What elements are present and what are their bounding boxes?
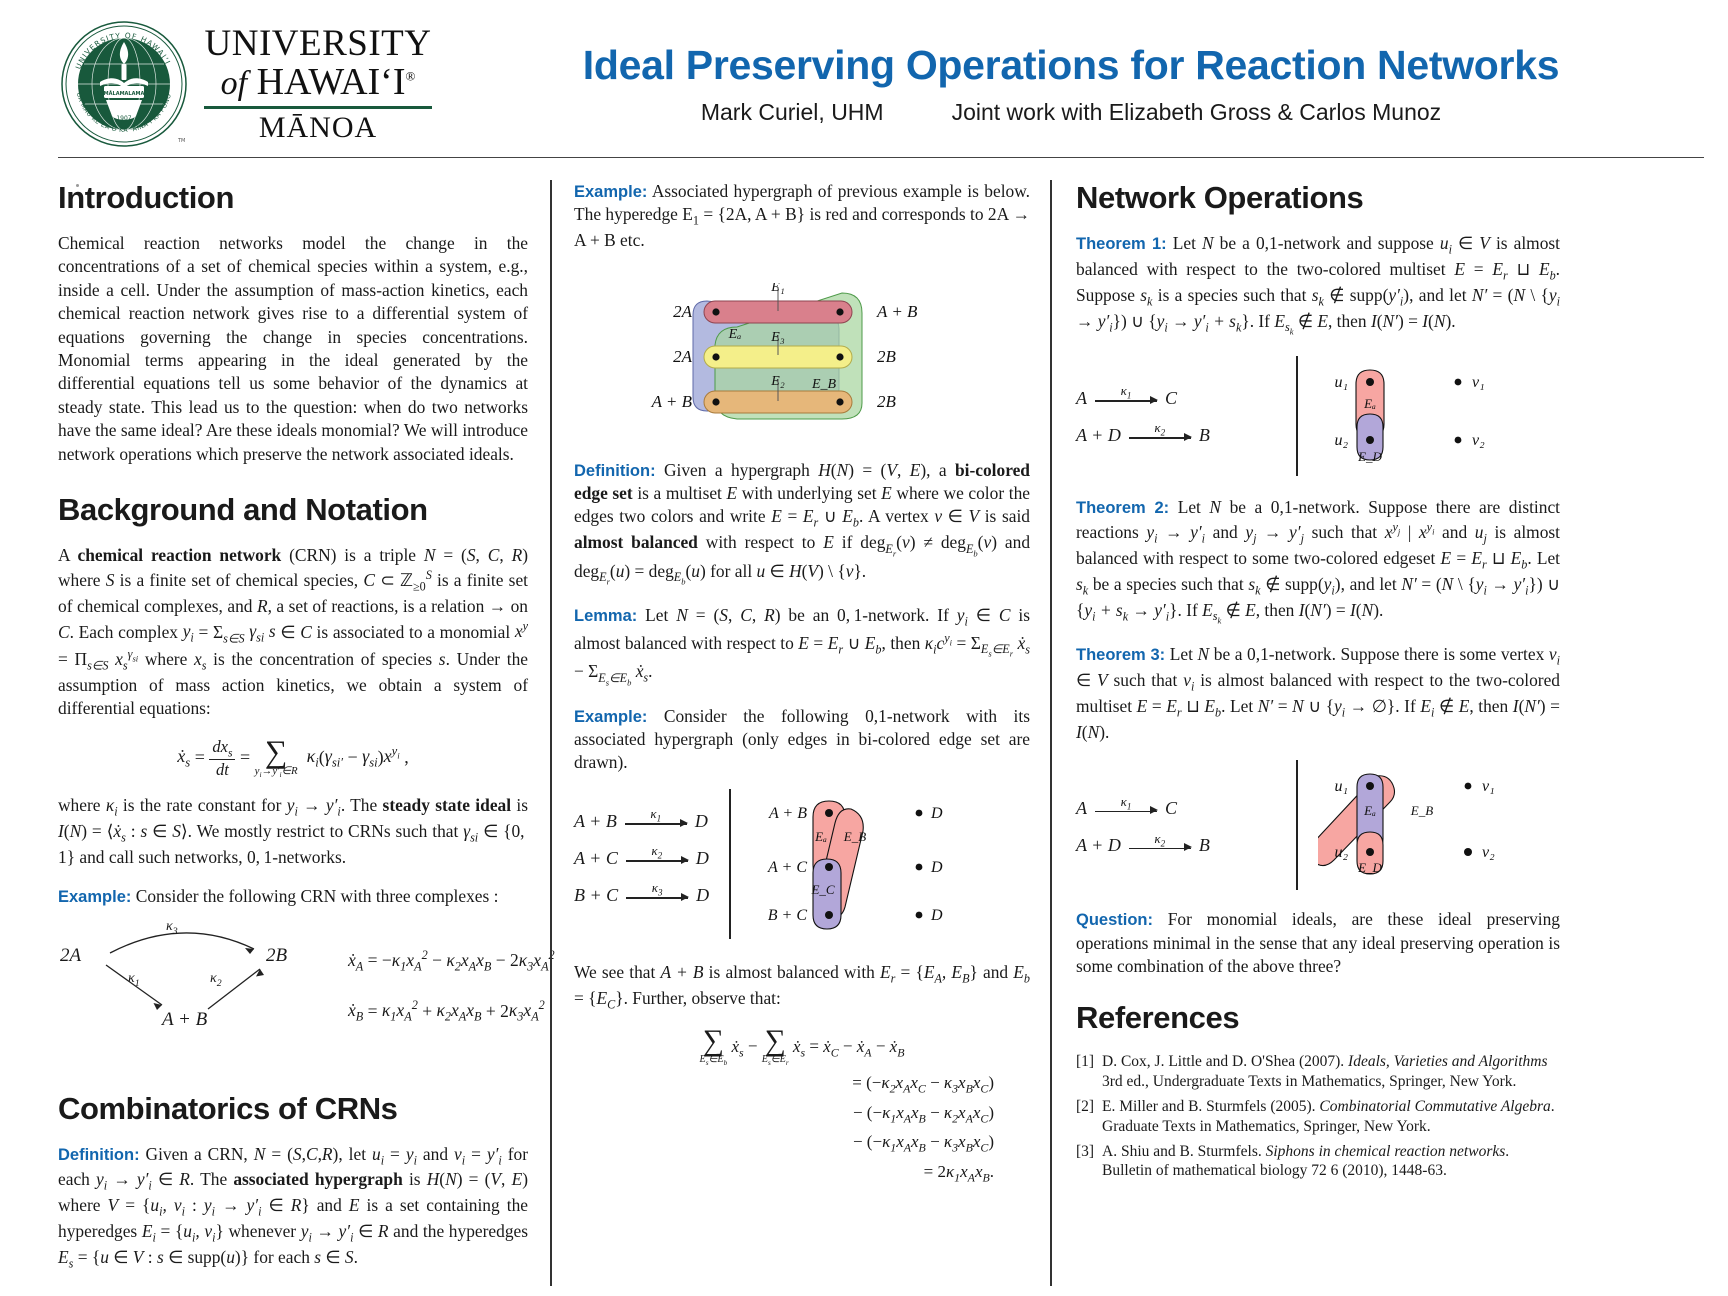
svg-text:2B: 2B: [877, 347, 897, 366]
svg-text:E₁: E₁: [770, 283, 784, 295]
reaction-arrow-icon: κ1: [1095, 800, 1157, 818]
reference-item: [3] A. Shiu and B. Sturmfels. Siphons in…: [1076, 1142, 1560, 1182]
reference-number: [1]: [1076, 1052, 1102, 1092]
reaction-row: A κ1 C: [1076, 798, 1276, 819]
svg-text:E_B: E_B: [1410, 803, 1433, 818]
svg-text:2A: 2A: [673, 302, 693, 321]
reference-body: D. Cox, J. Little and D. O'Shea (2007). …: [1102, 1052, 1560, 1092]
svg-text:Eₐ: Eₐ: [1363, 803, 1376, 818]
observation-paragraph: We see that A + B is almost balanced wit…: [574, 961, 1030, 1013]
wordmark-of: of: [221, 65, 247, 102]
crn-node-apb: A + B: [162, 1009, 207, 1031]
section-heading-network-operations: Network Operations: [1076, 180, 1560, 216]
column-3: Network Operations Theorem 1: Let N be a…: [1050, 180, 1560, 1286]
svg-text:D: D: [930, 907, 943, 924]
diagram-divider-3: [1296, 356, 1298, 476]
introduction-paragraph: Chemical reaction networks model the cha…: [58, 232, 528, 466]
diagram-divider-4: [1296, 760, 1298, 890]
theorem-2-paragraph: Theorem 2: Let N be a 0,1-network. Suppo…: [1076, 496, 1560, 627]
reference-rest: 3rd ed., Undergraduate Texts in Mathemat…: [1102, 1073, 1516, 1090]
crn-rate-k2: κ2: [210, 971, 222, 989]
column-1: Introduction Chemical reaction networks …: [58, 180, 550, 1286]
svg-text:u₁: u₁: [1334, 374, 1348, 391]
theorem-3-reactions: A κ1 C A + D κ2 B: [1076, 760, 1276, 890]
crn-graph: 2A 2B A + B κ3 κ1 κ2: [58, 917, 308, 1057]
references-list: [1] D. Cox, J. Little and D. O'Shea (200…: [1076, 1052, 1560, 1181]
lemma-paragraph: Lemma: Let N = (S, C, R) be an 0, 1-netw…: [574, 604, 1030, 688]
background-paragraph-1: A chemical reaction network (CRN) is a t…: [58, 544, 528, 721]
reaction-rhs: C: [1165, 798, 1177, 819]
crn-node-2b: 2B: [266, 945, 287, 967]
svg-text:v₂: v₂: [1472, 432, 1485, 449]
reaction-row: A + D κ2 B: [1076, 425, 1276, 446]
example-2-diagram: A + B κ1 D A + C κ2 D B + C κ3 D: [574, 789, 1030, 939]
reaction-rhs: C: [1165, 388, 1177, 409]
page-title: Ideal Preserving Operations for Reaction…: [442, 42, 1700, 89]
stray-dot-marker: [76, 184, 79, 187]
reaction-arrow-icon: κ2: [1129, 837, 1191, 855]
reaction-rhs: B: [1199, 835, 1210, 856]
example-label-2: Example:: [574, 183, 647, 201]
university-logo-block: MĀLAMALAMA 1907 UNIVERSITY OF HAWAIʻI UA…: [60, 20, 432, 148]
theorem-3-label: Theorem 3:: [1076, 646, 1165, 664]
reference-body: E. Miller and B. Sturmfels (2005). Combi…: [1102, 1097, 1560, 1137]
svg-text:2B: 2B: [877, 392, 897, 411]
authors-row: Mark Curiel, UHM Joint work with Elizabe…: [442, 99, 1700, 126]
reference-authors: E. Miller and B. Sturmfels (2005).: [1102, 1098, 1319, 1115]
column-2: Example: Associated hypergraph of previo…: [550, 180, 1050, 1286]
header-divider: [58, 157, 1704, 158]
crn-rate-k1: κ1: [128, 971, 140, 989]
poster-header: MĀLAMALAMA 1907 UNIVERSITY OF HAWAIʻI UA…: [0, 0, 1728, 168]
svg-text:E_D: E_D: [1357, 449, 1382, 464]
crn-rate-k3: κ3: [166, 919, 178, 937]
reaction-lhs: A + B: [574, 811, 617, 832]
reaction-list-panel: A + B κ1 D A + C κ2 D B + C κ3 D: [574, 789, 709, 939]
reaction-rhs: D: [696, 848, 709, 869]
reaction-row: A κ1 C: [1076, 388, 1276, 409]
svg-text:D: D: [930, 805, 943, 822]
reaction-lhs: A: [1076, 388, 1087, 409]
observation-eq-4: − (−κ1xAxB − κ3xBxC): [574, 1132, 1030, 1155]
collaboration-note: Joint work with Elizabeth Gross & Carlos…: [952, 99, 1442, 126]
author-name: Mark Curiel, UHM: [701, 99, 884, 126]
reaction-arrow-icon: κ1: [1095, 389, 1157, 407]
svg-text:B + C: B + C: [768, 907, 808, 924]
reaction-rhs: D: [696, 885, 709, 906]
theorem-1-diagram: A κ1 C A + D κ2 B: [1076, 356, 1560, 476]
svg-text:E_B: E_B: [843, 829, 866, 844]
svg-text:v₁: v₁: [1472, 374, 1485, 391]
reaction-lhs: B + C: [574, 885, 618, 906]
section-heading-introduction: Introduction: [58, 180, 528, 216]
crn-example-diagram: 2A 2B A + B κ3 κ1 κ2 ẋA = −κ1xA2 − κ2xAx…: [58, 917, 528, 1057]
example-2-intro: Example: Consider the following 0,1-netw…: [574, 705, 1030, 775]
svg-text:E₃: E₃: [770, 330, 785, 345]
background-paragraph-2: where κi is the rate constant for yi → y…: [58, 794, 528, 869]
wordmark-line-hawaii: of Hawaiʻi®: [221, 63, 416, 101]
wordmark-line-university: University: [205, 25, 432, 62]
svg-text:Eₐ: Eₐ: [728, 327, 742, 342]
question-label: Question:: [1076, 911, 1153, 929]
reaction-lhs: A + D: [1076, 835, 1121, 856]
reaction-row: A + D κ2 B: [1076, 835, 1276, 856]
section-heading-combinatorics: Combinatorics of CRNs: [58, 1091, 528, 1127]
svg-text:u₂: u₂: [1334, 432, 1348, 449]
reaction-arrow-icon: κ1: [625, 812, 687, 830]
reference-title: Siphons in chemical reaction networks: [1266, 1143, 1506, 1160]
svg-text:E_C: E_C: [811, 882, 835, 897]
question-paragraph: Question: For monomial ideals, are these…: [1076, 908, 1560, 978]
observation-eq-2: = (−κ2xAxC − κ3xBxC): [574, 1073, 1030, 1096]
wordmark-hawaii: Hawaiʻi: [257, 61, 406, 103]
observation-eq-3: − (−κ1xAxB − κ2xAxC): [574, 1103, 1030, 1126]
registered-mark: ®: [405, 68, 415, 83]
reaction-row: A + B κ1 D: [574, 811, 709, 832]
theorem-1-reactions: A κ1 C A + D κ2 B: [1076, 356, 1276, 476]
diagram-divider-2: [729, 789, 731, 939]
theorem-3-diagram: A κ1 C A + D κ2 B: [1076, 760, 1560, 890]
hypergraph-figure-2: A + B A + C B + C D D D Eₐ E_B E_C: [751, 789, 1030, 939]
title-block: Ideal Preserving Operations for Reaction…: [432, 42, 1708, 126]
svg-text:Eₐ: Eₐ: [814, 829, 827, 844]
reaction-arrow-icon: κ2: [626, 849, 688, 867]
university-wordmark: University of Hawaiʻi® Mānoa: [204, 25, 432, 143]
observation-equations: ∑Es∈Eb ẋs − ∑Es∈Er ẋs = ẋC − ẋA − ẋB = (…: [574, 1028, 1030, 1185]
background-equation-xdot: ẋs = dxsdt = ∑yi→y′i∈R κi(γsi′ − γsi)xyi…: [58, 737, 528, 780]
example-1-intro: Example: Consider the following CRN with…: [58, 885, 528, 908]
reaction-rhs: B: [1199, 425, 1210, 446]
reaction-arrow-icon: κ2: [1129, 426, 1191, 444]
bicolored-definition: Definition: Given a hypergraph H(N) = (V…: [574, 459, 1030, 588]
svg-text:1907: 1907: [116, 115, 131, 122]
svg-text:A + C: A + C: [767, 859, 807, 876]
reference-number: [2]: [1076, 1097, 1102, 1137]
definition-label: Definition:: [58, 1146, 140, 1164]
theorem-2-label: Theorem 2:: [1076, 499, 1169, 517]
svg-text:u₁: u₁: [1334, 778, 1348, 795]
reference-number: [3]: [1076, 1142, 1102, 1182]
crn-node-2a: 2A: [60, 945, 81, 967]
wordmark-line-manoa: Mānoa: [259, 113, 377, 143]
ode-xa: ẋA = −κ1xA2 − κ2xAxB − 2κ3xA2: [348, 948, 555, 974]
reaction-row: A + C κ2 D: [574, 848, 709, 869]
reaction-lhs: A + C: [574, 848, 618, 869]
svg-text:A + B: A + B: [876, 302, 918, 321]
svg-text:v₁: v₁: [1482, 778, 1495, 795]
svg-text:E_D: E_D: [1357, 860, 1382, 875]
reference-item: [1] D. Cox, J. Little and D. O'Shea (200…: [1076, 1052, 1560, 1092]
combinatorics-definition: Definition: Given a CRN, N = (S,C,R), le…: [58, 1143, 528, 1272]
reference-title: Ideals, Varieties and Algorithms: [1348, 1053, 1548, 1070]
observation-eq-5: = 2κ1xAxB.: [574, 1162, 1030, 1185]
svg-text:D: D: [930, 859, 943, 876]
svg-text:u₂: u₂: [1334, 844, 1348, 861]
theorem-3-paragraph: Theorem 3: Let N be a 0,1-network. Suppo…: [1076, 643, 1560, 744]
section-heading-background: Background and Notation: [58, 492, 528, 528]
crn-graph-panel: 2A 2B A + B κ3 κ1 κ2: [58, 917, 308, 1057]
theorem-1-paragraph: Theorem 1: Let N be a 0,1-network and su…: [1076, 232, 1560, 338]
definition-label-2: Definition:: [574, 462, 656, 480]
svg-text:v₂: v₂: [1482, 844, 1495, 861]
reaction-arrow-icon: κ3: [626, 886, 688, 904]
reference-authors: D. Cox, J. Little and D. O'Shea (2007).: [1102, 1053, 1348, 1070]
theorem-3-hypergraph: u₁ u₂ v₁ v₂ Eₐ E_B E_D: [1318, 760, 1560, 890]
reaction-lhs: A: [1076, 798, 1087, 819]
hypergraph-figure-1: E 2A 2A A + B A + B 2B 2B E₁ Eₐ E₃ E₂ E_…: [574, 283, 1030, 433]
lemma-label: Lemma:: [574, 607, 637, 625]
crn-ode-panel: ẋA = −κ1xA2 − κ2xAxB − 2κ3xA2 ẋB = κ1xA2…: [348, 917, 555, 1057]
theorem-1-label: Theorem 1:: [1076, 235, 1167, 253]
reference-body: A. Shiu and B. Sturmfels. Siphons in che…: [1102, 1142, 1560, 1182]
example-label-3: Example:: [574, 708, 647, 726]
svg-text:MĀLAMALAMA: MĀLAMALAMA: [104, 90, 145, 97]
svg-text:E_B: E_B: [811, 377, 837, 392]
reference-title: Combinatorial Commutative Algebra: [1319, 1098, 1550, 1115]
poster-body: Introduction Chemical reaction networks …: [0, 168, 1728, 1286]
theorem-1-hypergraph: u₁ u₂ v₁ v₂ Eₐ E_D: [1318, 356, 1560, 476]
svg-text:A + B: A + B: [768, 805, 807, 822]
reference-item: [2] E. Miller and B. Sturmfels (2005). C…: [1076, 1097, 1560, 1137]
svg-text:A + B: A + B: [651, 392, 693, 411]
wordmark-divider: [204, 106, 432, 109]
example-1-text: Consider the following CRN with three co…: [136, 886, 499, 906]
svg-text:E₂: E₂: [770, 374, 785, 389]
reaction-rhs: D: [695, 811, 708, 832]
svg-text:Eₐ: Eₐ: [1363, 396, 1376, 411]
university-seal-icon: MĀLAMALAMA 1907 UNIVERSITY OF HAWAIʻI UA…: [60, 20, 188, 148]
reference-authors: A. Shiu and B. Sturmfels.: [1102, 1143, 1266, 1160]
reaction-lhs: A + D: [1076, 425, 1121, 446]
ode-xb: ẋB = κ1xA2 + κ2xAxB + 2κ3xA2: [348, 999, 555, 1025]
reaction-row: B + C κ3 D: [574, 885, 709, 906]
svg-text:2A: 2A: [673, 347, 693, 366]
observation-eq-1: ∑Es∈Eb ẋs − ∑Es∈Er ẋs = ẋC − ẋA − ẋB: [574, 1028, 1030, 1067]
example-hypergraph-intro: Example: Associated hypergraph of previo…: [574, 180, 1030, 253]
section-heading-references: References: [1076, 1000, 1560, 1036]
example-label: Example:: [58, 888, 131, 906]
svg-text:TM: TM: [177, 138, 185, 144]
